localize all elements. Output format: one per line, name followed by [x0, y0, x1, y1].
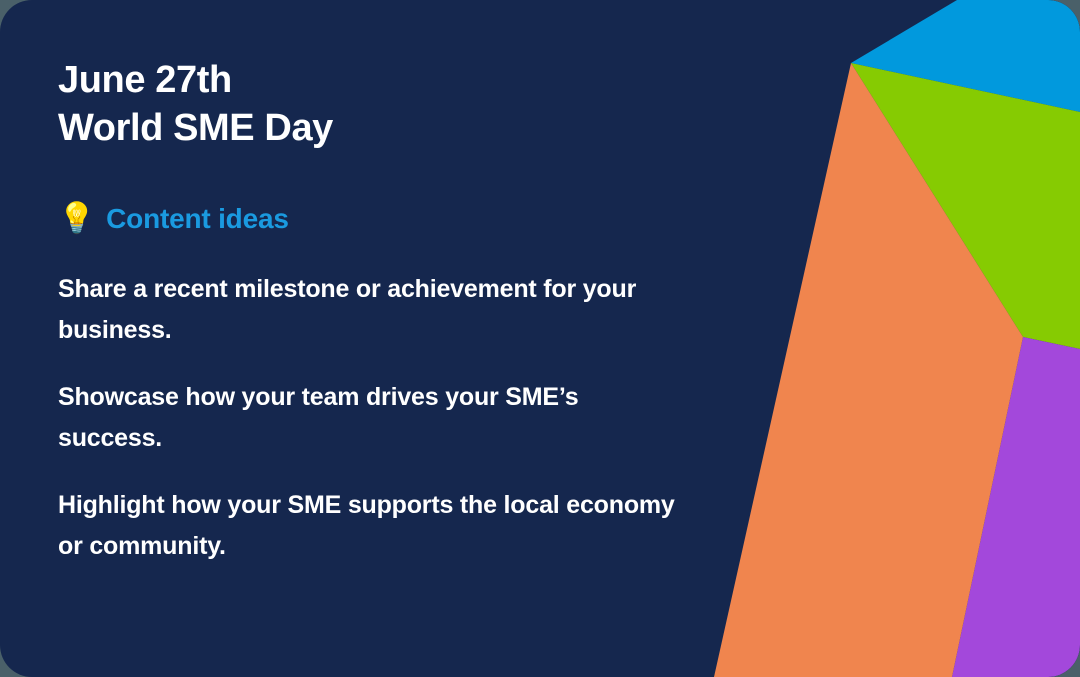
idea-text: Showcase how your team drives your SME’s…: [58, 377, 678, 459]
page-title: June 27th World SME Day: [58, 56, 678, 152]
facet-green-shape: [851, 63, 1080, 349]
title-line-date: June 27th: [58, 56, 678, 104]
content-column: June 27th World SME Day 💡 Content ideas …: [58, 56, 678, 567]
idea-text: Highlight how your SME supports the loca…: [58, 485, 678, 567]
list-item: Share a recent milestone or achievement …: [58, 269, 678, 351]
list-item: Showcase how your team drives your SME’s…: [58, 377, 678, 459]
content-ideas-label: Content ideas: [106, 202, 289, 236]
title-line-occasion: World SME Day: [58, 104, 678, 152]
facet-orange-shape: [714, 63, 1023, 677]
idea-text: Share a recent milestone or achievement …: [58, 269, 678, 351]
content-ideas-heading: 💡 Content ideas: [58, 202, 678, 236]
sme-day-card: June 27th World SME Day 💡 Content ideas …: [0, 0, 1080, 677]
facet-blue-shape: [851, 0, 1080, 112]
list-item: Highlight how your SME supports the loca…: [58, 485, 678, 567]
content-ideas-list: Share a recent milestone or achievement …: [58, 269, 678, 567]
lightbulb-icon: 💡: [58, 202, 95, 236]
facet-purple-shape: [952, 337, 1080, 677]
